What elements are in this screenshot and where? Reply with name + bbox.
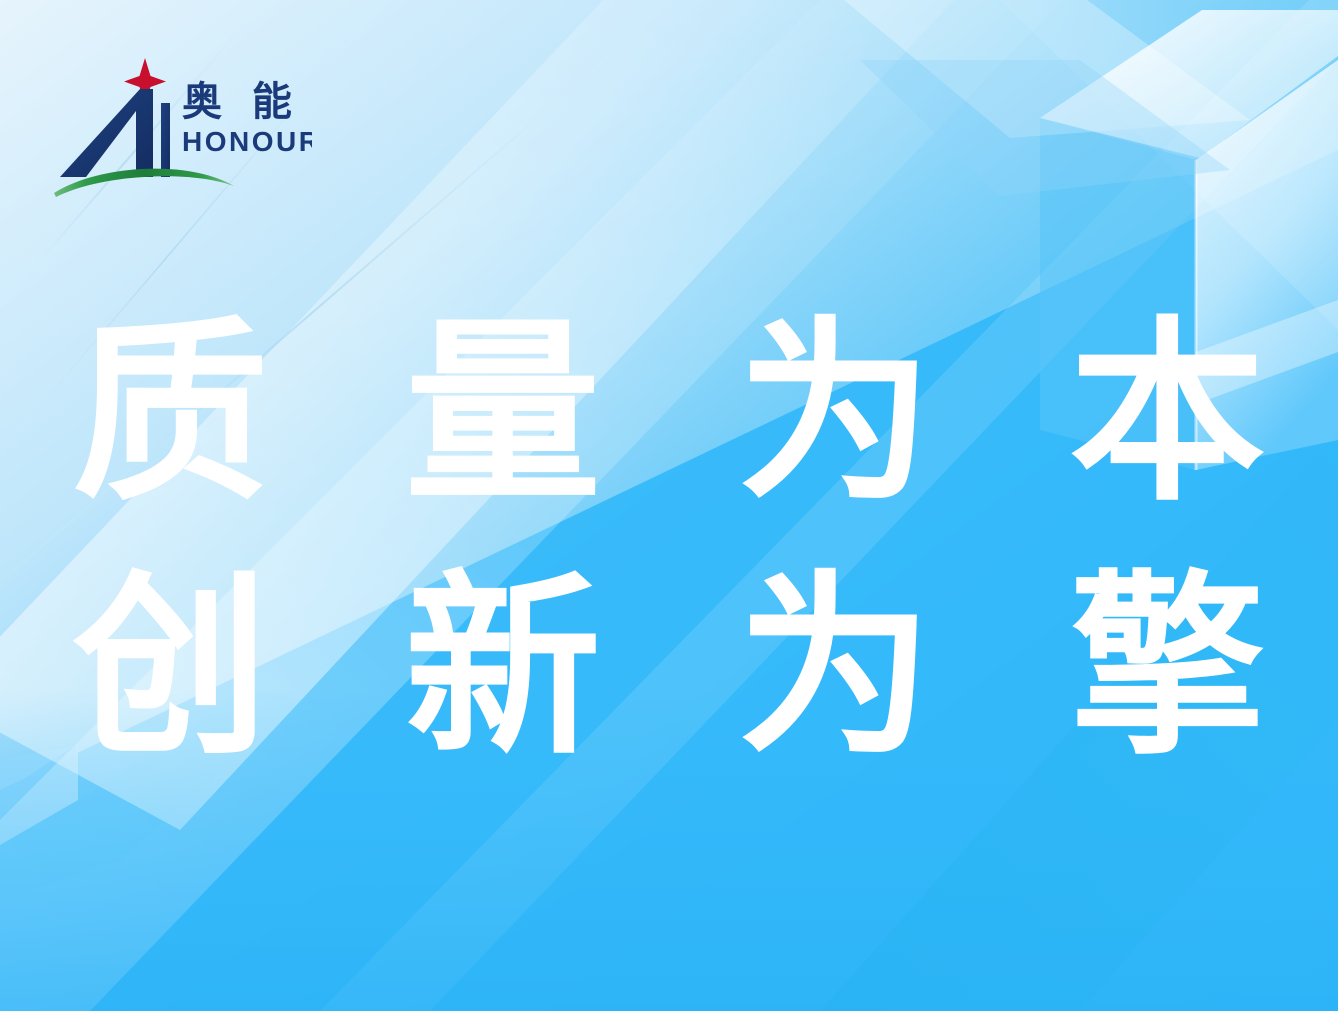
logo-english-name: HONOUR (182, 126, 312, 157)
honour-logo[interactable]: 奥 能 HONOUR (52, 55, 312, 200)
poster-canvas: 奥 能 HONOUR 质 量 为 本 创 新 为 擎 (0, 0, 1338, 1011)
logo-artwork: 奥 能 HONOUR (52, 55, 312, 200)
bottom-wash (0, 690, 1338, 1011)
logo-stem-bar (161, 103, 170, 177)
a-mountain-mark (60, 89, 153, 177)
logo-chinese-name: 奥 能 (182, 79, 300, 125)
